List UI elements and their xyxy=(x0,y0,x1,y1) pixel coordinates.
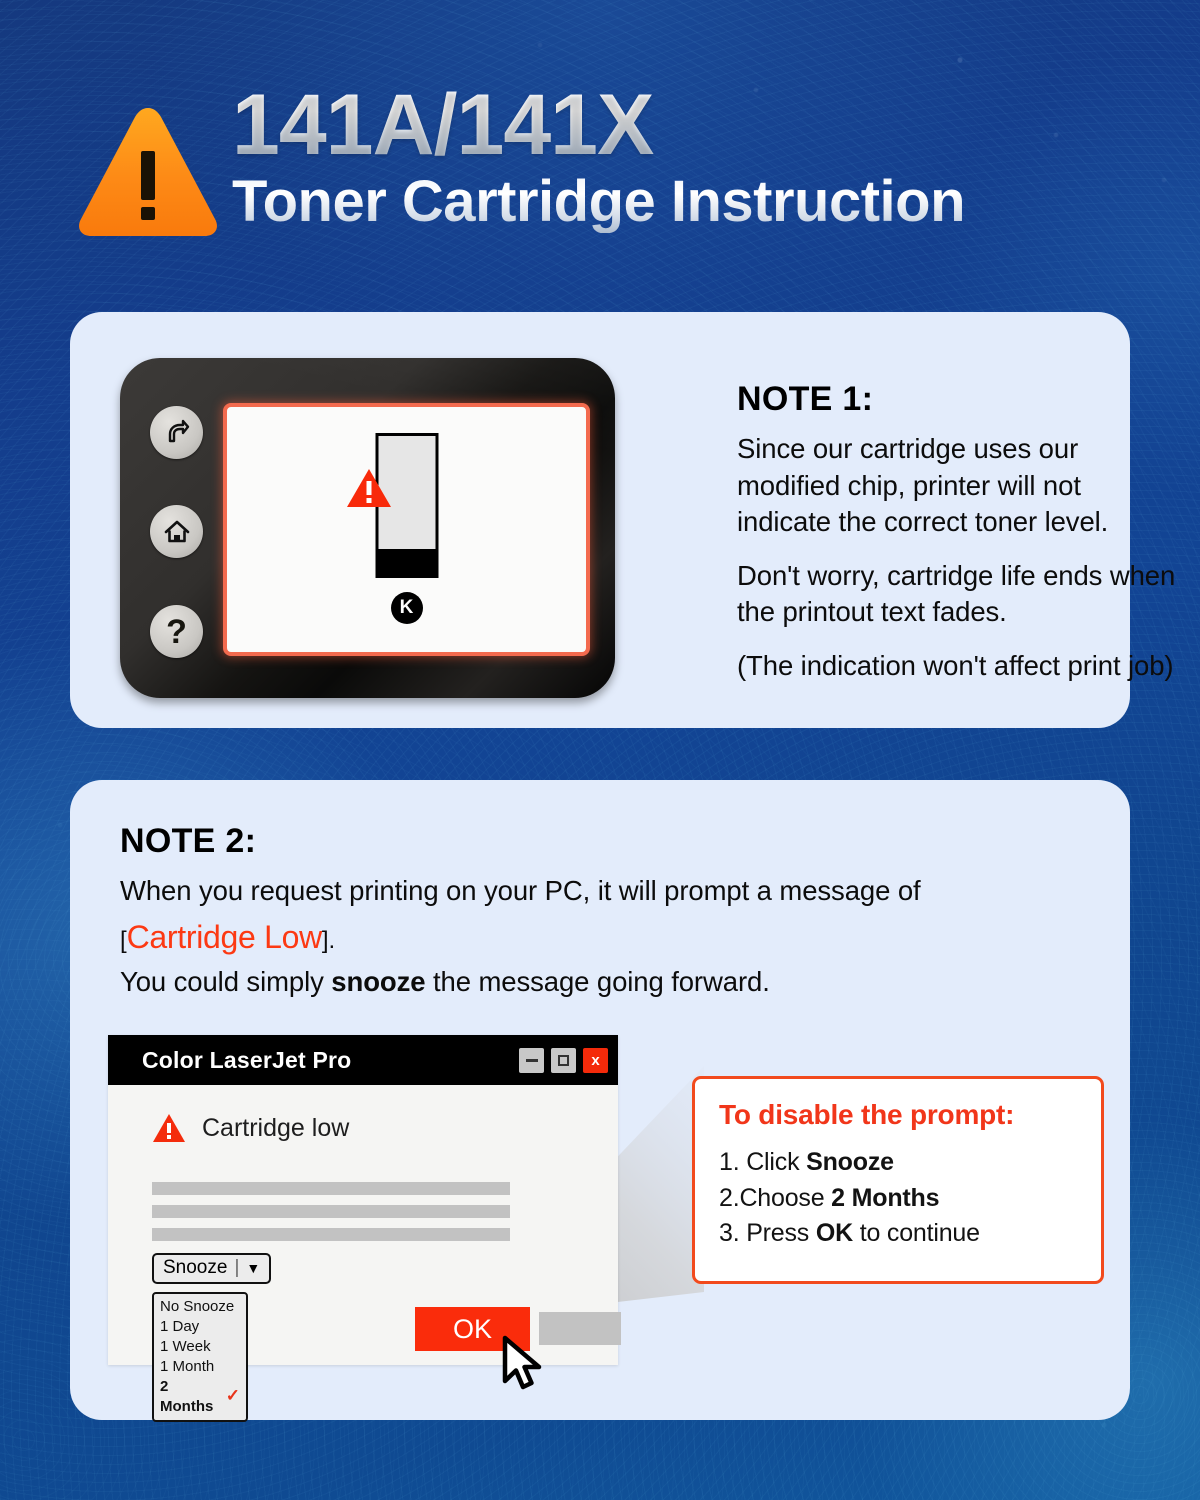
snooze-option-label: No Snooze xyxy=(160,1297,234,1317)
printer-control-panel: ? K xyxy=(120,358,615,698)
poster-root: 141A/141X Toner Cartridge Instruction ? xyxy=(0,0,1200,1500)
disable-prompt-callout: To disable the prompt: 1. Click Snooze 2… xyxy=(692,1076,1104,1284)
snooze-option-label: 1 Month xyxy=(160,1357,214,1377)
minimize-icon xyxy=(526,1059,538,1062)
cartridge-low-highlight: Cartridge Low xyxy=(127,919,322,955)
note1-text-block: NOTE 1: Since our cartridge uses our mod… xyxy=(737,380,1177,701)
home-icon xyxy=(161,516,193,548)
note2-line-1: When you request printing on your PC, it… xyxy=(120,873,1080,910)
snooze-option-label: 2 Months xyxy=(160,1377,226,1417)
step-emphasis: 2 Months xyxy=(831,1184,939,1212)
chevron-down-icon: ▼ xyxy=(246,1261,260,1276)
snooze-option[interactable]: 1 Day xyxy=(154,1317,246,1337)
note1-paragraph-3: (The indication won't affect print job) xyxy=(737,648,1177,685)
snooze-option[interactable]: 1 Month xyxy=(154,1357,246,1377)
bracket-close: ]. xyxy=(322,927,335,954)
cartridge-color-badge: K xyxy=(391,592,423,624)
snooze-dropdown-button[interactable]: Snooze | ▼ xyxy=(152,1253,271,1284)
step-tail: to continue xyxy=(853,1219,980,1247)
back-button[interactable] xyxy=(150,406,203,459)
note1-heading: NOTE 1: xyxy=(737,380,1177,419)
note1-paragraph-2: Don't worry, cartridge life ends when th… xyxy=(737,558,1177,631)
header: 141A/141X Toner Cartridge Instruction xyxy=(0,0,1200,300)
placeholder-bar xyxy=(152,1228,510,1241)
minimize-button[interactable] xyxy=(519,1048,544,1073)
warning-triangle-icon xyxy=(152,1113,186,1143)
snooze-options-list[interactable]: No Snooze 1 Day 1 Week 1 Month 2 Months✓ xyxy=(152,1292,248,1422)
snooze-option[interactable]: 1 Week xyxy=(154,1337,246,1357)
placeholder-bar xyxy=(152,1205,510,1218)
snooze-label: Snooze xyxy=(163,1258,227,1279)
snooze-option-label: 1 Day xyxy=(160,1317,199,1337)
snooze-option-selected[interactable]: 2 Months✓ xyxy=(154,1377,246,1417)
title-block: 141A/141X Toner Cartridge Instruction xyxy=(232,82,1132,233)
step-number: 3. xyxy=(719,1219,746,1247)
step-number: 1. xyxy=(719,1148,746,1176)
step-text: Click xyxy=(746,1148,806,1176)
note2-line-3: You could simply snooze the message goin… xyxy=(120,964,1080,1001)
note2-line-3a: You could simply xyxy=(120,966,331,997)
note1-paragraph-1: Since our cartridge uses our modified ch… xyxy=(737,431,1177,541)
help-button[interactable]: ? xyxy=(150,605,203,658)
callout-step: 3. Press OK to continue xyxy=(719,1216,1077,1252)
page-subtitle: Toner Cartridge Instruction xyxy=(232,172,1132,233)
callout-step: 1. Click Snooze xyxy=(719,1145,1077,1181)
secondary-button[interactable] xyxy=(539,1312,621,1345)
note1-card: ? K NOTE 1: Since our cartridge uses our… xyxy=(70,312,1130,728)
question-mark-icon: ? xyxy=(166,615,187,649)
close-button[interactable]: x xyxy=(583,1048,608,1073)
step-text: Choose xyxy=(739,1184,831,1212)
step-text: Press xyxy=(746,1219,816,1247)
back-arrow-icon xyxy=(161,417,193,449)
dialog-message-row: Cartridge low xyxy=(152,1113,349,1143)
warning-triangle-icon xyxy=(74,96,222,244)
step-number: 2. xyxy=(719,1184,739,1212)
page-title: 141A/141X xyxy=(232,82,1132,168)
dialog-titlebar: Color LaserJet Pro x xyxy=(108,1035,618,1085)
note2-text-block: NOTE 2: When you request printing on you… xyxy=(120,822,1080,1007)
home-button[interactable] xyxy=(150,505,203,558)
snooze-separator: | xyxy=(234,1258,239,1279)
printer-screen: K xyxy=(223,403,590,656)
warning-triangle-icon xyxy=(345,467,393,509)
note2-line-3c: the message going forward. xyxy=(425,966,769,997)
printer-dialog-window: Color LaserJet Pro x Cartridge low xyxy=(108,1035,618,1365)
callout-step: 2.Choose 2 Months xyxy=(719,1181,1077,1217)
dialog-message-text: Cartridge low xyxy=(202,1114,349,1143)
dialog-title: Color LaserJet Pro xyxy=(142,1047,351,1074)
note2-heading: NOTE 2: xyxy=(120,822,1080,861)
mouse-pointer-icon xyxy=(500,1335,546,1393)
toner-level-fill xyxy=(375,549,438,578)
bracket-open: [ xyxy=(120,927,127,954)
window-controls: x xyxy=(519,1048,608,1073)
step-emphasis: OK xyxy=(816,1219,853,1247)
note2-card: NOTE 2: When you request printing on you… xyxy=(70,780,1130,1420)
checkmark-icon: ✓ xyxy=(226,1385,240,1408)
note2-line-2: [Cartridge Low]. xyxy=(120,916,1080,959)
placeholder-bar xyxy=(152,1182,510,1195)
step-emphasis: Snooze xyxy=(806,1148,894,1176)
maximize-button[interactable] xyxy=(551,1048,576,1073)
snooze-option[interactable]: No Snooze xyxy=(154,1297,246,1317)
note2-snooze-word: snooze xyxy=(331,966,425,997)
snooze-option-label: 1 Week xyxy=(160,1337,211,1357)
maximize-icon xyxy=(558,1055,569,1066)
callout-title: To disable the prompt: xyxy=(719,1099,1077,1131)
